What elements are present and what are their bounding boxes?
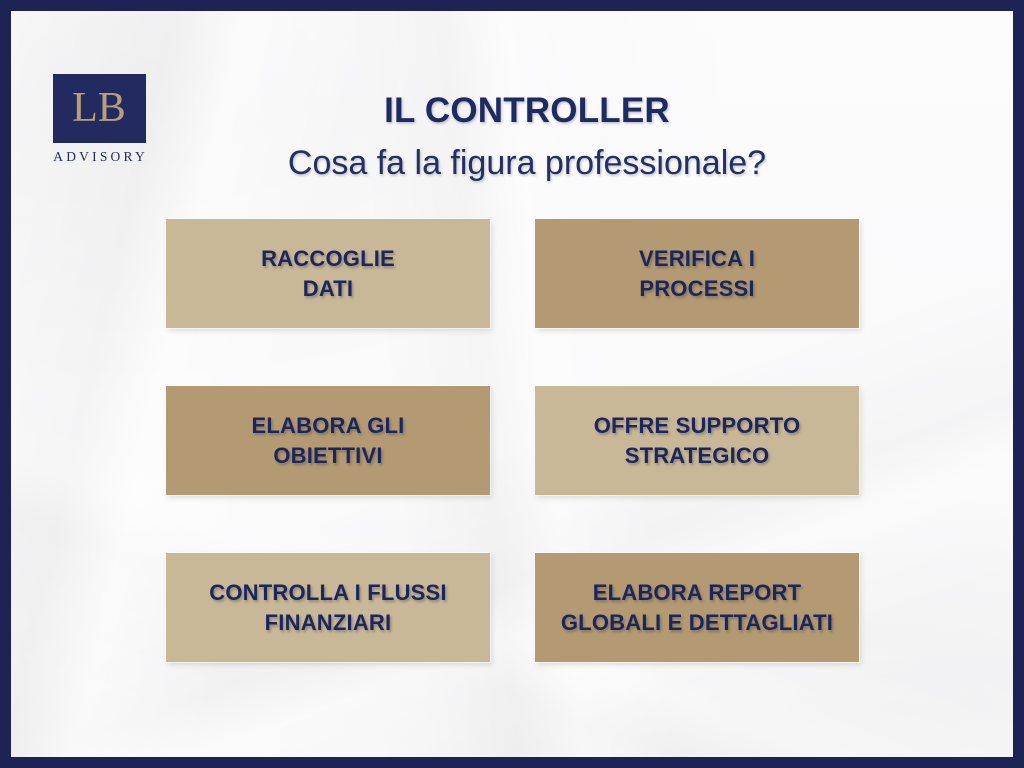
responsibility-box-line1: CONTROLLA I FLUSSI — [209, 580, 446, 605]
responsibility-box-label: CONTROLLA I FLUSSI FINANZIARI — [199, 578, 456, 637]
responsibility-box: RACCOGLIE DATI — [166, 219, 490, 328]
responsibility-box-line2: STRATEGICO — [625, 443, 770, 468]
responsibility-box: CONTROLLA I FLUSSI FINANZIARI — [166, 553, 490, 662]
responsibility-box-line1: VERIFICA I — [639, 246, 755, 271]
responsibility-box: ELABORA GLI OBIETTIVI — [166, 386, 490, 495]
responsibility-box-line2: PROCESSI — [639, 276, 754, 301]
logo-monogram: LB — [72, 87, 126, 129]
responsibility-box: VERIFICA I PROCESSI — [535, 219, 859, 328]
logo: LB ADVISORY — [47, 74, 151, 165]
responsibility-box-line1: ELABORA REPORT — [593, 580, 802, 605]
responsibility-box-label: OFFRE SUPPORTO STRATEGICO — [584, 411, 811, 470]
page-title: IL CONTROLLER — [171, 91, 883, 131]
responsibility-box: OFFRE SUPPORTO STRATEGICO — [535, 386, 859, 495]
responsibility-box-line2: DATI — [303, 276, 354, 301]
responsibility-box-line2: GLOBALI E DETTAGLIATI — [561, 610, 833, 635]
responsibility-box-label: RACCOGLIE DATI — [251, 244, 405, 303]
responsibility-box-line1: OFFRE SUPPORTO — [594, 413, 801, 438]
slide: LB ADVISORY IL CONTROLLER Cosa fa la fig… — [0, 0, 1024, 768]
responsibility-box-label: ELABORA REPORT GLOBALI E DETTAGLIATI — [551, 578, 843, 637]
responsibility-box-line1: RACCOGLIE — [261, 246, 395, 271]
responsibility-box-label: VERIFICA I PROCESSI — [629, 244, 765, 303]
logo-mark: LB — [53, 74, 146, 143]
responsibility-box-line2: OBIETTIVI — [273, 443, 382, 468]
responsibility-box-line1: ELABORA GLI — [252, 413, 405, 438]
responsibility-box-label: ELABORA GLI OBIETTIVI — [242, 411, 415, 470]
responsibility-box-grid: RACCOGLIE DATI VERIFICA I PROCESSI ELABO… — [166, 219, 870, 662]
page-subtitle: Cosa fa la figura professionale? — [171, 144, 883, 183]
logo-wordmark: ADVISORY — [47, 149, 151, 165]
responsibility-box-line2: FINANZIARI — [265, 610, 392, 635]
responsibility-box: ELABORA REPORT GLOBALI E DETTAGLIATI — [535, 553, 859, 662]
